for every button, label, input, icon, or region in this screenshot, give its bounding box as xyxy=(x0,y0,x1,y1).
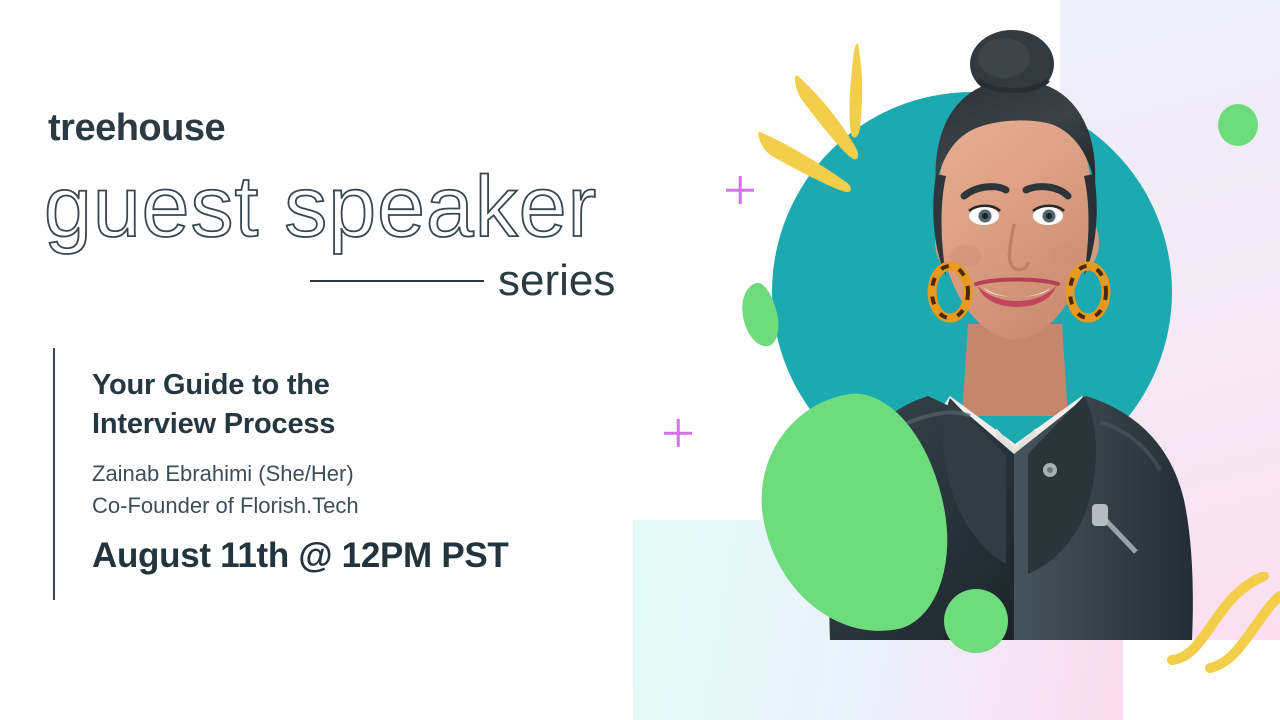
talk-title-line2: Interview Process xyxy=(92,405,612,444)
brand-wordmark: treehouse xyxy=(48,107,225,150)
yellow-wave-lines-icon xyxy=(1166,572,1280,682)
talk-title: Your Guide to the Interview Process xyxy=(92,366,612,443)
headline-guest-speaker: guest speaker xyxy=(40,158,660,268)
speaker-role: Co-Founder of Florish.Tech xyxy=(92,490,612,522)
speaker-name: Zainab Ebrahimi (She/Her) xyxy=(92,458,612,490)
vertical-divider-rule xyxy=(53,348,55,600)
slide-canvas: treehouse guest speaker series Your Guid… xyxy=(0,0,1280,720)
plus-mark-icon xyxy=(664,419,692,447)
headline-series-word: series xyxy=(498,256,615,306)
talk-title-line1: Your Guide to the xyxy=(92,366,612,405)
plus-mark-icon xyxy=(726,176,754,204)
plus-bar-vertical xyxy=(739,176,742,204)
green-dot xyxy=(944,589,1008,653)
plus-bar-vertical xyxy=(677,419,680,447)
green-dot xyxy=(1218,104,1258,146)
event-date: August 11th @ 12PM PST xyxy=(92,536,612,576)
series-divider-rule xyxy=(310,280,484,282)
event-details-block: Your Guide to the Interview Process Zain… xyxy=(92,366,612,576)
headline-outline-text: guest speaker xyxy=(44,159,597,255)
